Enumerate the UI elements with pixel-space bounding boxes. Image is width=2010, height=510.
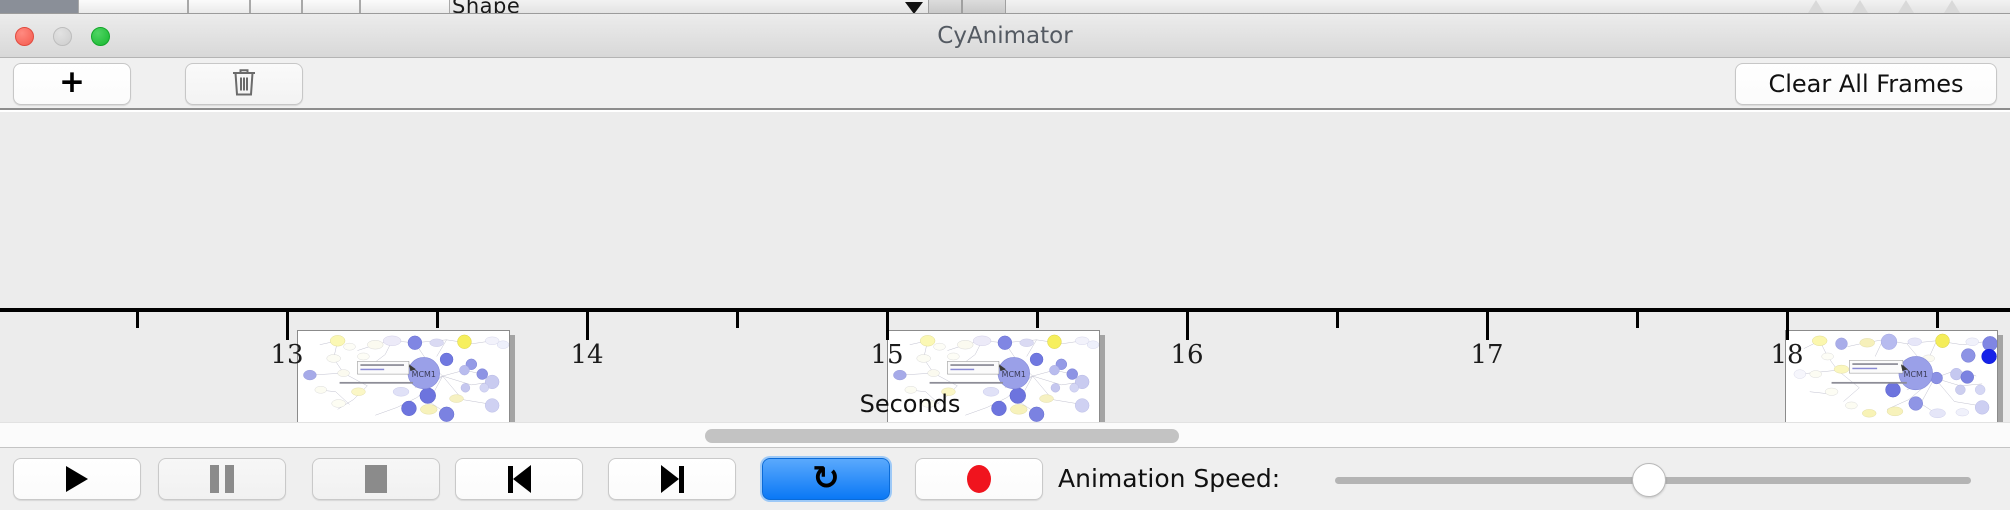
loop-icon: ↻ (812, 461, 840, 494)
axis-tick-label: 2 (0, 340, 30, 370)
background-block (962, 0, 1006, 13)
background-block (928, 0, 962, 13)
pause-icon (210, 465, 234, 493)
background-chevron (1808, 0, 1824, 13)
playback-control-bar: ↻ Animation Speed: (0, 448, 2010, 510)
delete-frame-button[interactable] (185, 63, 303, 105)
trash-icon (231, 67, 257, 101)
axis-tick-major (1786, 312, 1789, 340)
axis-tick-major (586, 312, 589, 340)
background-chevron (1898, 0, 1914, 13)
axis-tick-minor (1336, 312, 1339, 328)
axis-title-text: Seconds (860, 390, 961, 418)
timeline-scrollbar-thumb[interactable] (705, 429, 1179, 443)
animation-speed-slider-thumb[interactable] (1632, 463, 1666, 497)
background-chevron (1944, 0, 1960, 13)
timeline-panel[interactable]: MCM1 (0, 112, 2010, 422)
axis-tick-label: 13 (247, 340, 327, 370)
loop-button[interactable]: ↻ (762, 458, 890, 500)
skip-next-icon (661, 465, 684, 493)
background-segment (360, 0, 450, 13)
axis-tick-label: 16 (1147, 340, 1227, 370)
play-icon (66, 466, 88, 492)
axis-tick-label: 15 (847, 340, 927, 370)
background-segment (188, 0, 250, 13)
svg-text:MCM1: MCM1 (1002, 370, 1026, 379)
svg-text:MCM1: MCM1 (412, 370, 436, 379)
svg-text:MCM1: MCM1 (1904, 370, 1928, 379)
pause-button[interactable] (158, 458, 286, 500)
background-window-label: Shape (452, 0, 520, 14)
axis-tick-minor (136, 312, 139, 328)
cyanimator-window: Shape CyAnimator + (0, 0, 2010, 510)
timeline-axis-line (0, 308, 2010, 312)
axis-tick-major (1486, 312, 1489, 340)
add-frame-button[interactable]: + (13, 63, 131, 105)
axis-tick-major (1186, 312, 1189, 340)
play-button[interactable] (13, 458, 141, 500)
timeline-scrollbar[interactable] (0, 422, 2010, 448)
axis-tick-label: 14 (547, 340, 627, 370)
next-frame-button[interactable] (608, 458, 736, 500)
background-segment (78, 0, 188, 13)
background-cursor-arrow (905, 2, 923, 14)
record-icon (967, 465, 991, 493)
skip-previous-icon (508, 465, 531, 493)
axis-tick-major (286, 312, 289, 340)
axis-tick-minor (1636, 312, 1639, 328)
axis-title: Seconds (0, 390, 2010, 418)
stop-button[interactable] (312, 458, 440, 500)
axis-tick-label: 18 (1747, 340, 1827, 370)
title-bar: CyAnimator (0, 14, 2010, 58)
background-segment (250, 0, 302, 13)
previous-frame-button[interactable] (455, 458, 583, 500)
axis-tick-minor (736, 312, 739, 328)
background-dark-tab (0, 0, 78, 13)
record-button[interactable] (915, 458, 1043, 500)
axis-tick-minor (1036, 312, 1039, 328)
plus-icon: + (59, 67, 85, 98)
axis-tick-label: 17 (1447, 340, 1527, 370)
axis-tick-minor (1936, 312, 1939, 328)
background-chevron (1852, 0, 1868, 13)
window-title: CyAnimator (0, 14, 2010, 58)
axis-tick-minor (436, 312, 439, 328)
axis-tick-major (886, 312, 889, 340)
background-window-strip: Shape (0, 0, 2010, 14)
clear-all-frames-label: Clear All Frames (1768, 70, 1963, 98)
stop-icon (365, 465, 387, 493)
background-segment (302, 0, 360, 13)
animation-speed-label: Animation Speed: (1058, 458, 1280, 500)
toolbar: + Clear All Frames (0, 58, 2010, 110)
clear-all-frames-button[interactable]: Clear All Frames (1735, 63, 1997, 105)
